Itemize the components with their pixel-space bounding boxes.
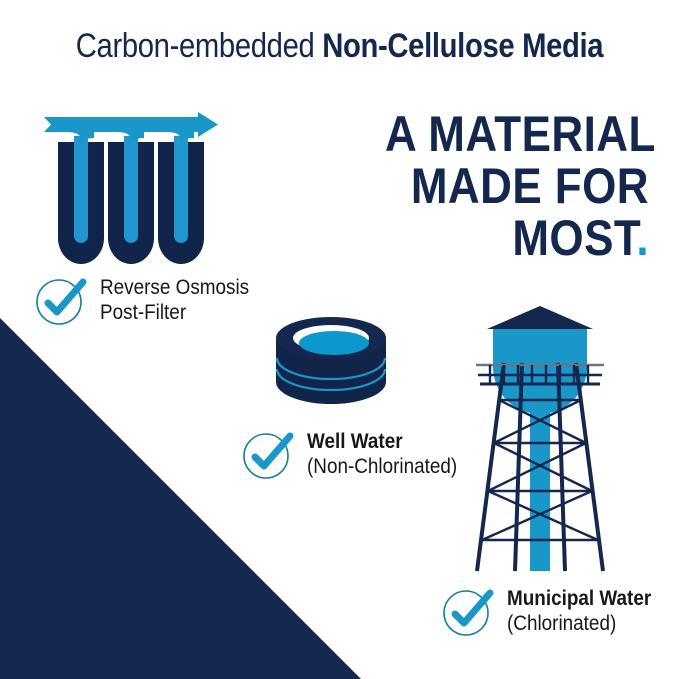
caption-line-2: Post-Filter bbox=[100, 300, 249, 325]
caption-text: Reverse Osmosis Post-Filter bbox=[100, 275, 249, 325]
caption-text: Municipal Water (Chlorinated) bbox=[507, 586, 651, 636]
hero-headline: A MATERIAL MADE FOR MOST. bbox=[385, 108, 649, 264]
check-circle-icon bbox=[33, 272, 89, 328]
caption-line-2: (Non-Chlorinated) bbox=[307, 454, 457, 479]
hero-line-3: MOST. bbox=[385, 212, 649, 264]
caption-well-water: Well Water (Non-Chlorinated) bbox=[240, 426, 474, 482]
hero-line-3-word: MOST bbox=[512, 210, 636, 266]
caption-reverse-osmosis: Reverse Osmosis Post-Filter bbox=[33, 272, 266, 328]
infographic-canvas: Carbon-embedded Non-Cellulose Media A MA… bbox=[0, 0, 679, 679]
reverse-osmosis-filter-icon bbox=[36, 112, 226, 272]
caption-line-1: Municipal Water bbox=[507, 586, 651, 611]
caption-municipal-water: Municipal Water (Chlorinated) bbox=[440, 583, 667, 639]
well-water-icon bbox=[272, 316, 390, 414]
caption-line-2: (Chlorinated) bbox=[507, 611, 651, 636]
water-tower-icon bbox=[460, 305, 620, 577]
hero-line-1: A MATERIAL bbox=[385, 108, 649, 160]
check-circle-icon bbox=[440, 583, 496, 639]
hero-period: . bbox=[636, 210, 649, 266]
tower-roof bbox=[487, 306, 593, 329]
caption-text: Well Water (Non-Chlorinated) bbox=[307, 429, 457, 479]
title-bold-part: Non-Cellulose Media bbox=[322, 27, 603, 65]
caption-line-1: Well Water bbox=[307, 429, 457, 454]
well-water-fill bbox=[299, 331, 369, 355]
caption-line-1: Reverse Osmosis bbox=[100, 275, 249, 300]
page-title: Carbon-embedded Non-Cellulose Media bbox=[48, 26, 632, 66]
title-light-part: Carbon-embedded bbox=[76, 27, 322, 65]
hero-line-2: MADE FOR bbox=[385, 160, 649, 212]
check-circle-icon bbox=[240, 426, 296, 482]
